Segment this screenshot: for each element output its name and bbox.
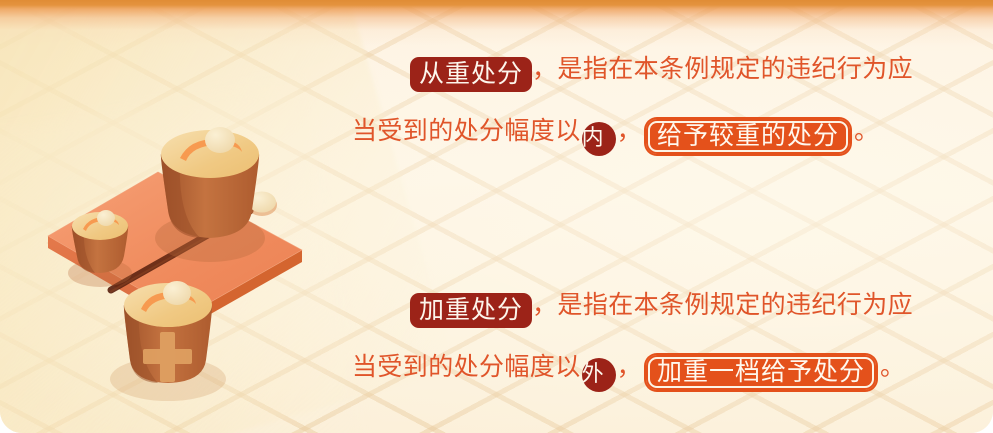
paragraph-1-line-2-text-a: 当受到的处分幅度以	[352, 116, 581, 145]
paragraph-1-line-2-comma: ，	[617, 116, 642, 145]
paragraph-cong-zhong-chu-fen: 从重处分，是指在本条例规定的违纪行为应 当受到的处分幅度以内，给予较重的处分。	[352, 38, 912, 162]
free-weight-with-plus	[110, 281, 226, 401]
paragraph-1-line-2: 当受到的处分幅度以内，给予较重的处分。	[352, 100, 912, 162]
paragraph-2-line-2-period: 。	[880, 352, 905, 381]
paragraph-2-line-2: 当受到的处分幅度以外，加重一档给予处分。	[352, 336, 912, 398]
action-badge-jia-zhong-yi-dang-gei-yu-chu-fen[interactable]: 加重一档给予处分	[646, 355, 876, 390]
scope-badge-nei[interactable]: 内	[582, 122, 616, 156]
paragraph-1-line-1: 从重处分，是指在本条例规定的违纪行为应	[352, 38, 912, 100]
paragraph-2-line-1: 加重处分，是指在本条例规定的违纪行为应	[352, 274, 912, 336]
term-badge-jia-zhong-chu-fen[interactable]: 加重处分	[410, 293, 532, 328]
term-badge-cong-zhong-chu-fen[interactable]: 从重处分	[410, 57, 532, 92]
paragraph-2-line-1-text: ，是指在本条例规定的违纪行为应	[532, 290, 913, 319]
large-weight-on-plate	[155, 127, 265, 262]
paragraph-1-line-2-period: 。	[854, 116, 879, 145]
paragraph-2-line-2-text-a: 当受到的处分幅度以	[352, 352, 581, 381]
slider-illustration	[40, 60, 390, 410]
paragraph-1-line-1-text: ，是指在本条例规定的违纪行为应	[532, 54, 913, 83]
slide-canvas: 从重处分，是指在本条例规定的违纪行为应 当受到的处分幅度以内，给予较重的处分。 …	[0, 0, 993, 433]
definition-text-column: 从重处分，是指在本条例规定的违纪行为应 当受到的处分幅度以内，给予较重的处分。 …	[352, 38, 912, 398]
paragraph-jia-zhong-chu-fen: 加重处分，是指在本条例规定的违纪行为应 当受到的处分幅度以外，加重一档给予处分。	[352, 274, 912, 398]
small-weight-on-plate	[68, 210, 132, 287]
action-badge-gei-yu-jiao-zhong-de-chu-fen[interactable]: 给予较重的处分	[646, 119, 850, 154]
scope-badge-wai[interactable]: 外	[582, 358, 616, 392]
paragraph-2-line-2-comma: ，	[617, 352, 642, 381]
